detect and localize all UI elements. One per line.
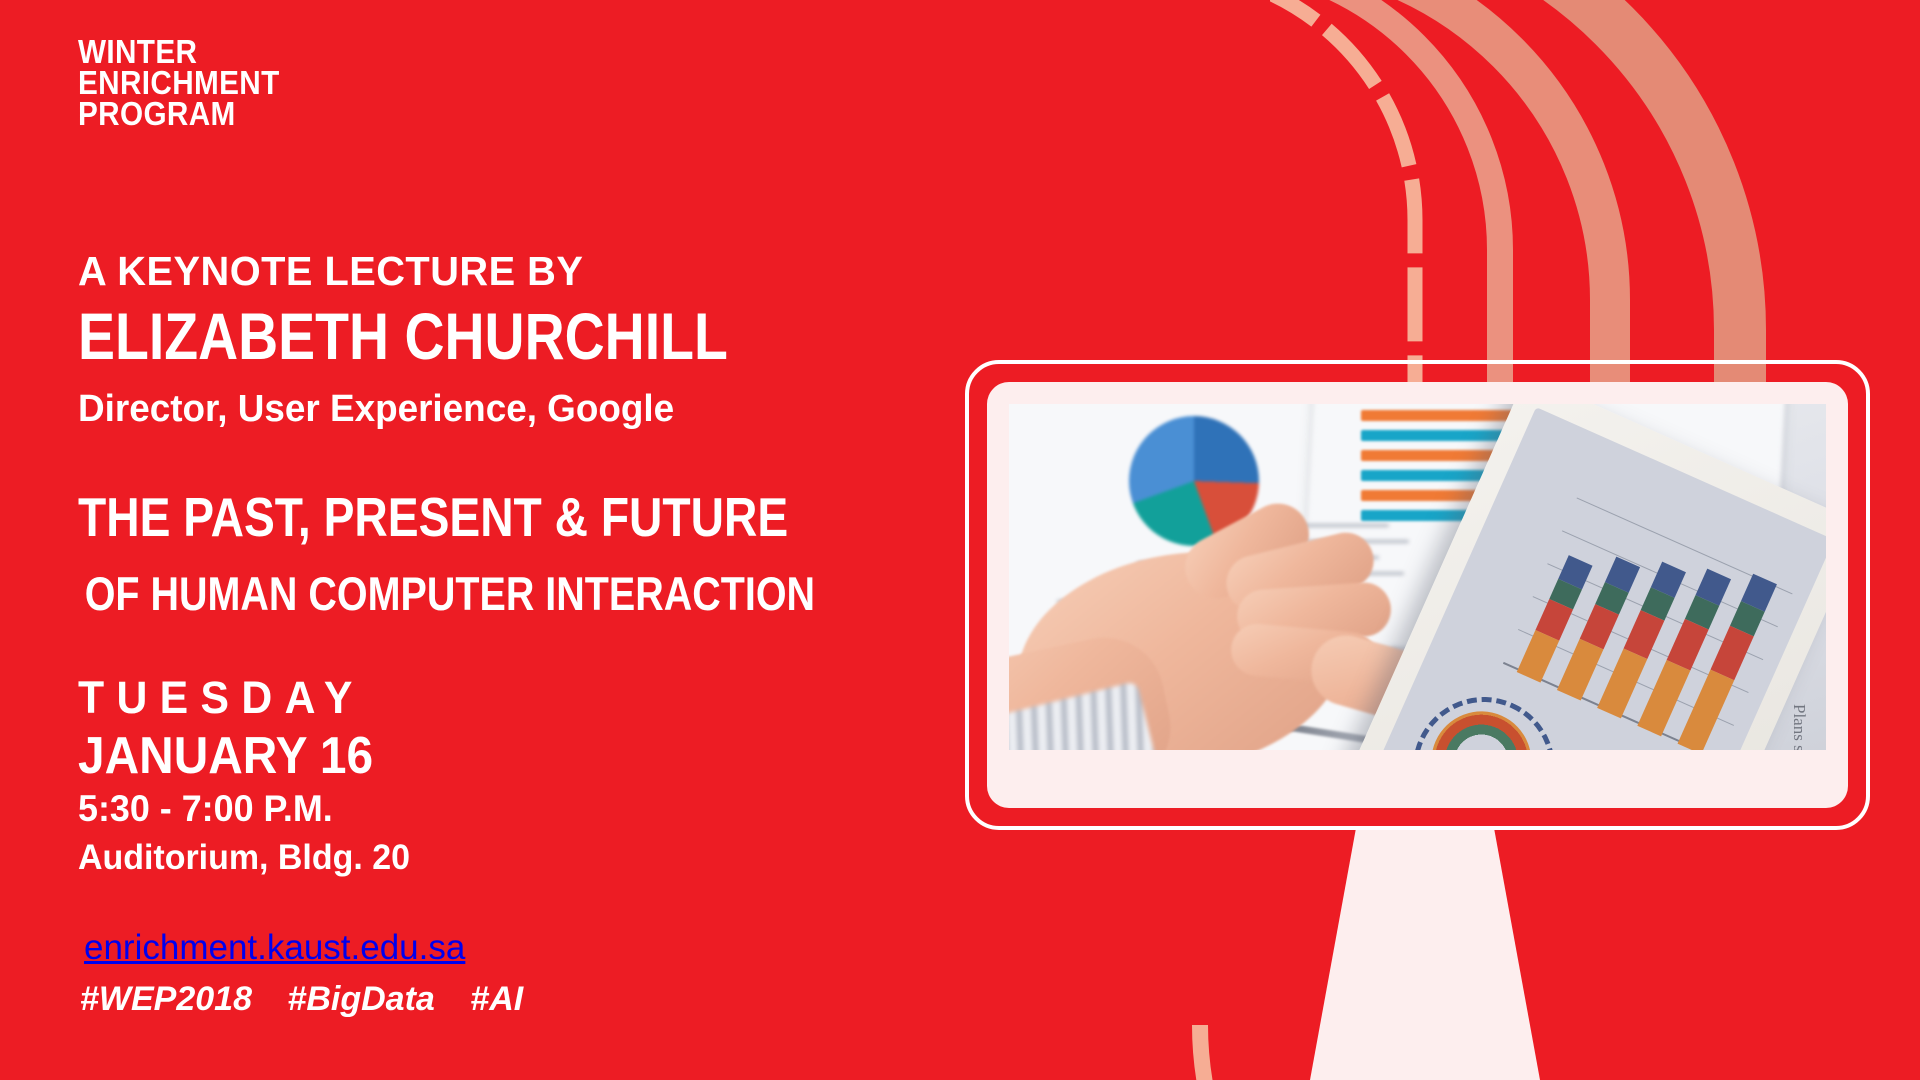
- event-time: 5:30 - 7:00 P.M.: [78, 788, 333, 830]
- tablet-bar-chart: [1502, 474, 1803, 750]
- talk-title-line-2: OF HUMAN COMPUTER INTERACTION: [78, 570, 815, 617]
- hashtag-row: #WEP2018 #BigData #AI: [80, 980, 523, 1019]
- monitor-screen-photo: Plans successful: [1009, 404, 1826, 750]
- website-link[interactable]: enrichment.kaust.edu.sa: [84, 928, 465, 968]
- event-venue: Auditorium, Bldg. 20: [78, 838, 410, 878]
- event-date: JANUARY 16: [78, 726, 373, 786]
- plans-successful-label: Plans successful: [1789, 704, 1809, 750]
- talk-title-line-1: THE PAST, PRESENT & FUTURE: [78, 490, 788, 545]
- wep-logo: WINTER ENRICHMENT PROGRAM: [78, 36, 280, 129]
- logo-line-winter: WINTER: [78, 36, 280, 67]
- speaker-role: Director, User Experience, Google: [78, 388, 674, 431]
- keynote-kicker: A KEYNOTE LECTURE BY: [78, 248, 583, 295]
- logo-line-enrichment: ENRICHMENT: [78, 67, 280, 98]
- hashtag-ai[interactable]: #AI: [470, 980, 523, 1018]
- poster-canvas: WINTER ENRICHMENT PROGRAM A KEYNOTE LECT…: [0, 0, 1920, 1080]
- monitor-stand: [1310, 828, 1540, 1080]
- speaker-name: ELIZABETH CHURCHILL: [78, 303, 728, 369]
- hashtag-wep2018[interactable]: #WEP2018: [80, 980, 252, 1018]
- monitor-bezel: Plans successful: [987, 382, 1848, 808]
- logo-line-program: PROGRAM: [78, 98, 280, 129]
- monitor-illustration: Plans successful: [965, 360, 1870, 830]
- event-day: TUESDAY: [78, 672, 365, 724]
- hashtag-bigdata[interactable]: #BigData: [287, 980, 434, 1018]
